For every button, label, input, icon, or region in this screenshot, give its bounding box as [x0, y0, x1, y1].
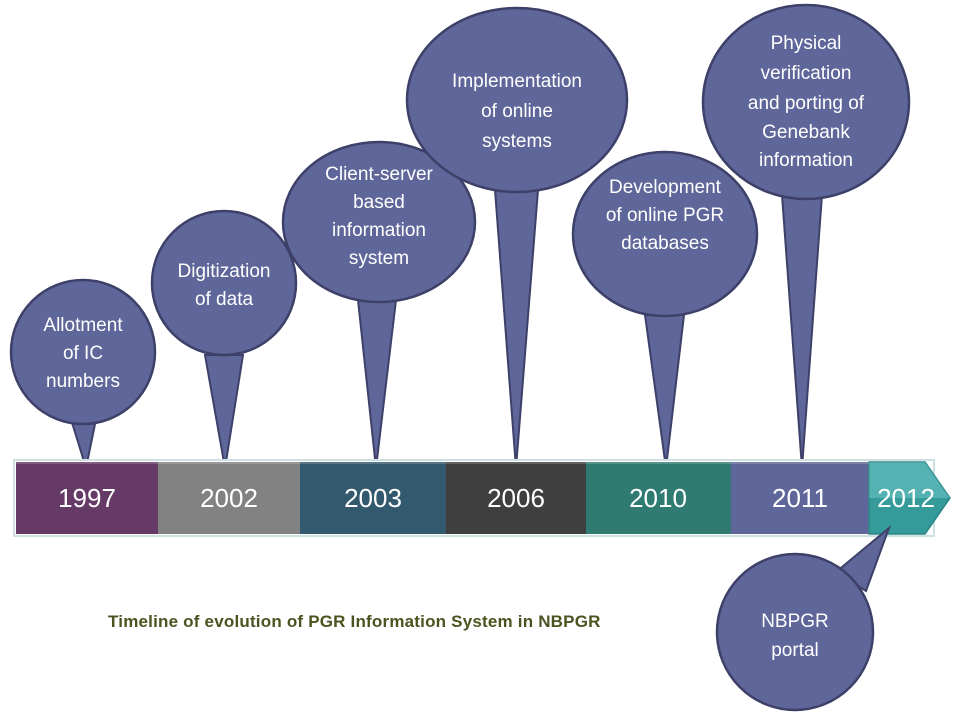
- callout-1997-line-2: of IC: [63, 343, 103, 364]
- callout-2006-line-1: Implementation: [452, 71, 582, 92]
- callout-1997[interactable]: Allotment of IC numbers: [11, 280, 155, 424]
- year-label-2003: 2003: [344, 483, 402, 513]
- callout-2006-line-3: systems: [482, 131, 552, 152]
- callout-2010[interactable]: Development of online PGR databases: [573, 152, 757, 316]
- callout-bubble-2006[interactable]: [407, 8, 627, 192]
- year-label-2011: 2011: [772, 483, 828, 513]
- callout-2011-line-4: Genebank: [762, 122, 850, 143]
- callout-2006-line-2: of online: [481, 101, 553, 122]
- callout-2003-line-2: based: [353, 192, 405, 213]
- year-label-2012: 2012: [877, 483, 935, 513]
- callout-2012-line-2: portal: [771, 640, 819, 661]
- tail-2011: [782, 195, 822, 468]
- callout-2012-line-1: NBPGR: [761, 611, 829, 632]
- tail-2006: [495, 190, 538, 468]
- callout-2011-line-5: information: [759, 150, 853, 171]
- tail-2002: [205, 355, 243, 468]
- year-label-2002: 2002: [200, 483, 258, 513]
- bar-top-highlight: [16, 462, 869, 464]
- callout-2010-line-3: databases: [621, 233, 709, 254]
- callout-2003-line-4: system: [349, 248, 409, 269]
- callout-1997-line-1: Allotment: [43, 315, 123, 336]
- timeline-bar: 1997 2002 2003 2006 2010 2011 2012: [14, 460, 950, 536]
- callout-2010-line-1: Development: [609, 177, 722, 198]
- callout-2003-line-1: Client-server: [325, 164, 433, 185]
- callout-2002[interactable]: Digitization of data: [152, 211, 296, 355]
- timeline-diagram-canvas: 1997 2002 2003 2006 2010 2011 2012 Allot…: [0, 0, 960, 720]
- callout-2010-line-2: of online PGR: [606, 205, 724, 226]
- callout-2002-line-1: Digitization: [178, 261, 271, 282]
- callout-2002-line-2: of data: [195, 289, 254, 310]
- year-label-2010: 2010: [629, 483, 687, 513]
- callout-2006[interactable]: Implementation of online systems: [407, 8, 627, 192]
- callout-2011[interactable]: Physical verification and porting of Gen…: [703, 5, 909, 199]
- callout-bubble-2002[interactable]: [152, 211, 296, 355]
- callout-2003-line-3: information: [332, 220, 426, 241]
- callout-2011-line-3: and porting of: [748, 93, 865, 114]
- callout-1997-line-3: numbers: [46, 371, 120, 392]
- tail-2003: [358, 300, 396, 468]
- callout-2011-line-1: Physical: [771, 33, 842, 54]
- year-label-2006: 2006: [487, 483, 545, 513]
- callout-2012[interactable]: NBPGR portal: [717, 528, 889, 710]
- diagram-caption: Timeline of evolution of PGR Information…: [108, 612, 601, 632]
- year-label-1997: 1997: [58, 483, 116, 513]
- callout-2011-line-2: verification: [761, 63, 852, 84]
- tail-2010: [645, 315, 684, 468]
